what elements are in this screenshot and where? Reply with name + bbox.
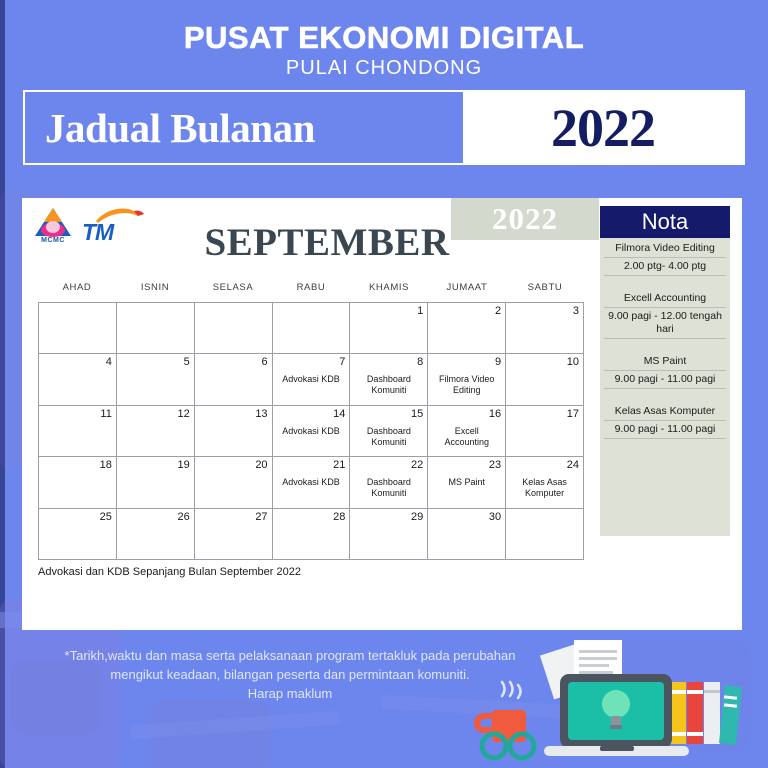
page-title: PUSAT EKONOMI DIGITAL: [0, 20, 768, 56]
day-of-week-sabtu: SABTU: [506, 282, 584, 293]
day-number: 10: [510, 356, 579, 369]
day-number: 29: [354, 511, 423, 524]
day-number: 1: [354, 305, 423, 318]
day-of-week-header: AHADISNINSELASARABUKHAMISJUMAATSABTU: [38, 282, 584, 293]
disclaimer-text: *Tarikh,waktu dan masa serta pelaksanaan…: [40, 646, 540, 703]
calendar-day-cell[interactable]: 5: [117, 354, 195, 405]
calendar-day-cell[interactable]: 18: [39, 457, 117, 508]
nota-item: MS Paint9.00 pagi - 11.00 pagi: [600, 351, 730, 389]
tm-logo-label: TM: [82, 219, 113, 246]
day-number: 27: [199, 511, 268, 524]
nota-header-text: Nota: [642, 209, 688, 235]
nota-item: Filmora Video Editing2.00 ptg- 4.00 ptg: [600, 238, 730, 276]
calendar-day-cell[interactable]: 30: [428, 509, 506, 560]
mcmc-logo-label: MCMC: [32, 237, 74, 244]
calendar-day-cell[interactable]: 27: [195, 509, 273, 560]
calendar-day-cell[interactable]: 29: [350, 509, 428, 560]
nota-panel: Nota Filmora Video Editing2.00 ptg- 4.00…: [600, 206, 730, 536]
day-event-label: Dashboard Komuniti: [354, 477, 423, 499]
day-number: 14: [277, 408, 346, 421]
day-event-label: Advokasi KDB: [277, 374, 346, 385]
nota-item-title: Kelas Asas Komputer: [604, 405, 726, 420]
mcmc-triangle-icon: [32, 206, 74, 238]
day-number: 15: [354, 408, 423, 421]
calendar-day-cell[interactable]: 22Dashboard Komuniti: [350, 457, 428, 508]
nota-item: Kelas Asas Komputer9.00 pagi - 11.00 pag…: [600, 401, 730, 439]
mcmc-logo-icon: MCMC: [32, 206, 74, 248]
day-of-week-rabu: RABU: [272, 282, 350, 293]
day-number: 26: [121, 511, 190, 524]
calendar-empty-cell: [39, 303, 117, 354]
day-of-week-selasa: SELASA: [194, 282, 272, 293]
year-label: 2022: [551, 97, 655, 159]
laptop-icon: [544, 674, 689, 756]
day-event-label: Kelas Asas Komputer: [510, 477, 579, 499]
logo-group: MCMC TM: [32, 206, 138, 248]
nota-item-title: Filmora Video Editing: [604, 242, 726, 257]
month-title: SEPTEMBER: [172, 220, 482, 265]
calendar-caption: Advokasi dan KDB Sepanjang Bulan Septemb…: [38, 566, 301, 578]
calendar-day-cell[interactable]: 19: [117, 457, 195, 508]
nota-divider-gap: [600, 339, 730, 351]
calendar-day-cell[interactable]: 6: [195, 354, 273, 405]
day-event-label: Filmora Video Editing: [432, 374, 501, 396]
page-subtitle: PULAI CHONDONG: [0, 57, 768, 80]
tm-logo-icon: TM: [80, 207, 138, 247]
calendar-day-cell[interactable]: 21Advokasi KDB: [273, 457, 351, 508]
day-number: 16: [432, 408, 501, 421]
calendar-day-cell[interactable]: 4: [39, 354, 117, 405]
schedule-label: Jadual Bulanan: [45, 104, 315, 152]
day-number: 23: [432, 459, 501, 472]
nota-item-time: 9.00 pagi - 11.00 pagi: [604, 420, 726, 439]
nota-header: Nota: [600, 206, 730, 238]
day-event-label: Dashboard Komuniti: [354, 426, 423, 448]
day-number: 30: [432, 511, 501, 524]
calendar-day-cell[interactable]: 28: [273, 509, 351, 560]
calendar-grid: 1234567Advokasi KDB8Dashboard Komuniti9F…: [38, 302, 584, 560]
day-event-label: Advokasi KDB: [277, 426, 346, 437]
day-number: 22: [354, 459, 423, 472]
calendar-day-cell[interactable]: 26: [117, 509, 195, 560]
day-number: 18: [43, 459, 112, 472]
calendar-day-cell[interactable]: 12: [117, 406, 195, 457]
day-number: 28: [277, 511, 346, 524]
title-banner-left: Jadual Bulanan: [25, 92, 463, 163]
calendar-day-cell[interactable]: 23MS Paint: [428, 457, 506, 508]
day-number: 25: [43, 511, 112, 524]
calendar-day-cell[interactable]: 15Dashboard Komuniti: [350, 406, 428, 457]
calendar-card: MCMC TM 2022 SEPTEMBER AHADISNINSELASARA…: [22, 198, 742, 630]
calendar-day-cell[interactable]: 11: [39, 406, 117, 457]
calendar-empty-cell: [195, 303, 273, 354]
nota-divider-gap: [600, 439, 730, 451]
day-number: 3: [510, 305, 579, 318]
nota-item-time: 2.00 ptg- 4.00 ptg: [604, 257, 726, 276]
title-banner-right: 2022: [463, 92, 743, 163]
calendar-day-cell[interactable]: 14Advokasi KDB: [273, 406, 351, 457]
nota-item-title: Excell Accounting: [604, 292, 726, 307]
day-number: 17: [510, 408, 579, 421]
day-event-label: Advokasi KDB: [277, 477, 346, 488]
day-number: 7: [277, 356, 346, 369]
calendar-day-cell[interactable]: 3: [506, 303, 584, 354]
day-of-week-jumaat: JUMAAT: [428, 282, 506, 293]
day-number: 24: [510, 459, 579, 472]
calendar-empty-cell: [117, 303, 195, 354]
day-event-label: Dashboard Komuniti: [354, 374, 423, 396]
calendar-day-cell[interactable]: 7Advokasi KDB: [273, 354, 351, 405]
calendar-day-cell[interactable]: 1: [350, 303, 428, 354]
disclaimer-line-3: Harap maklum: [40, 684, 540, 703]
day-number: 5: [121, 356, 190, 369]
disclaimer-line-1: *Tarikh,waktu dan masa serta pelaksanaan…: [40, 646, 540, 665]
day-number: 12: [121, 408, 190, 421]
calendar-empty-cell: [506, 509, 584, 560]
calendar-day-cell[interactable]: 17: [506, 406, 584, 457]
disclaimer-line-2: mengikut keadaan, bilangan peserta dan p…: [40, 665, 540, 684]
day-number: 4: [43, 356, 112, 369]
day-number: 6: [199, 356, 268, 369]
day-number: 8: [354, 356, 423, 369]
title-banner: Jadual Bulanan 2022: [23, 90, 745, 165]
calendar-day-cell[interactable]: 10: [506, 354, 584, 405]
calendar-day-cell[interactable]: 9Filmora Video Editing: [428, 354, 506, 405]
day-number: 19: [121, 459, 190, 472]
nota-divider-gap: [600, 389, 730, 401]
year-watermark-text: 2022: [492, 201, 558, 237]
nota-list: Filmora Video Editing2.00 ptg- 4.00 ptgE…: [600, 238, 730, 451]
workspace-illustration: [474, 634, 764, 764]
day-event-label: Excell Accounting: [432, 426, 501, 448]
day-of-week-ahad: AHAD: [38, 282, 116, 293]
calendar-day-cell[interactable]: 2: [428, 303, 506, 354]
day-number: 11: [43, 408, 112, 421]
day-number: 2: [432, 305, 501, 318]
calendar-day-cell[interactable]: 24Kelas Asas Komputer: [506, 457, 584, 508]
day-event-label: MS Paint: [432, 477, 501, 488]
nota-item-title: MS Paint: [604, 355, 726, 370]
day-number: 21: [277, 459, 346, 472]
day-number: 13: [199, 408, 268, 421]
nota-item-time: 9.00 pagi - 12.00 tengah hari: [604, 307, 726, 339]
day-number: 20: [199, 459, 268, 472]
nota-divider-gap: [600, 276, 730, 288]
calendar-day-cell[interactable]: 8Dashboard Komuniti: [350, 354, 428, 405]
page-header: PUSAT EKONOMI DIGITAL PULAI CHONDONG Jad…: [0, 0, 768, 180]
calendar-day-cell[interactable]: 25: [39, 509, 117, 560]
day-number: 9: [432, 356, 501, 369]
calendar-empty-cell: [273, 303, 351, 354]
nota-item: Excell Accounting9.00 pagi - 12.00 tenga…: [600, 288, 730, 339]
day-of-week-khamis: KHAMIS: [350, 282, 428, 293]
calendar-day-cell[interactable]: 13: [195, 406, 273, 457]
nota-item-time: 9.00 pagi - 11.00 pagi: [604, 370, 726, 389]
calendar-day-cell[interactable]: 16Excell Accounting: [428, 406, 506, 457]
books-icon: [670, 682, 742, 745]
day-of-week-isnin: ISNIN: [116, 282, 194, 293]
calendar-day-cell[interactable]: 20: [195, 457, 273, 508]
